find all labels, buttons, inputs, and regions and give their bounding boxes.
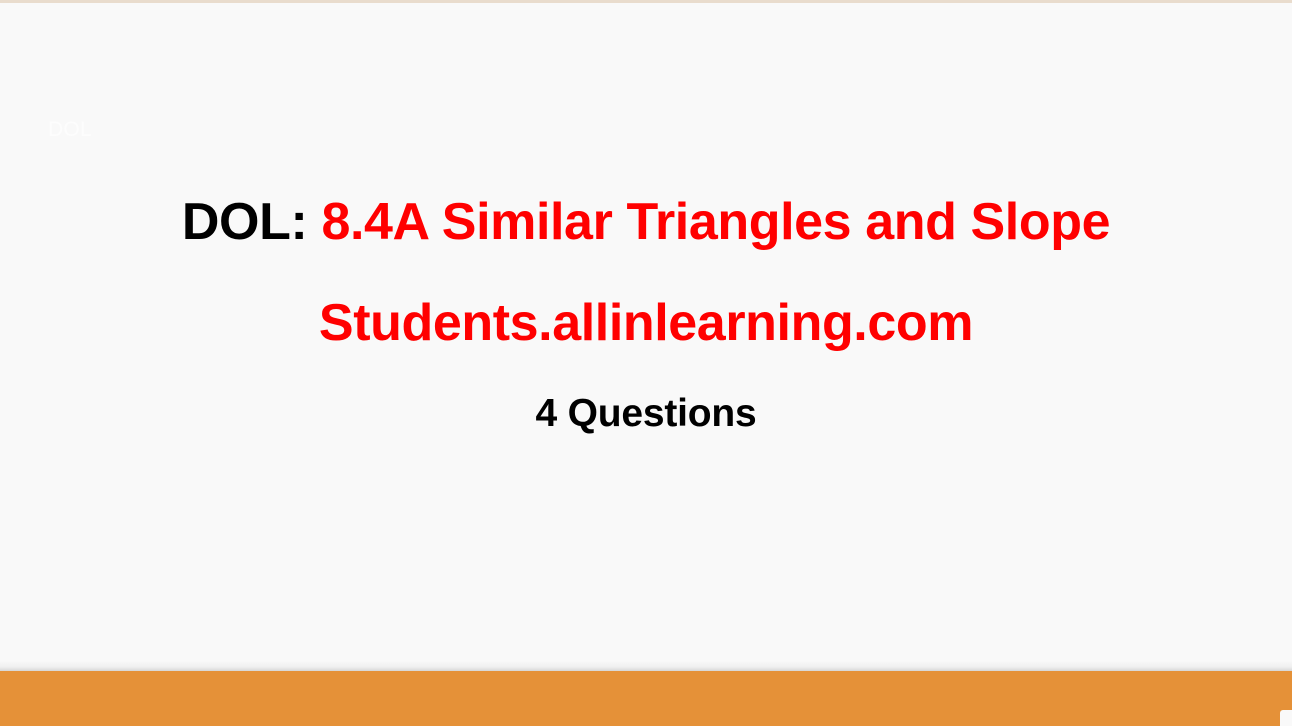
top-divider-rule (0, 0, 1292, 3)
question-count-label: 4 Questions (0, 387, 1292, 441)
slide-heading-prefix: DOL: (182, 193, 322, 251)
slide-canvas: DOL DOL: 8.4A Similar Triangles and Slop… (0, 0, 1292, 726)
slide-heading: DOL: 8.4A Similar Triangles and Slope (0, 186, 1292, 258)
band-drop-shadow (0, 661, 1292, 671)
slide-heading-accent: 8.4A Similar Triangles and Slope (321, 193, 1110, 251)
bottom-right-corner-chip (1280, 710, 1292, 726)
bottom-orange-band (0, 671, 1292, 726)
student-site-url[interactable]: Students.allinlearning.com (0, 287, 1292, 359)
slide-placeholder-title: DOL (48, 115, 92, 145)
slide-body-content: DOL: 8.4A Similar Triangles and Slope St… (0, 186, 1292, 441)
